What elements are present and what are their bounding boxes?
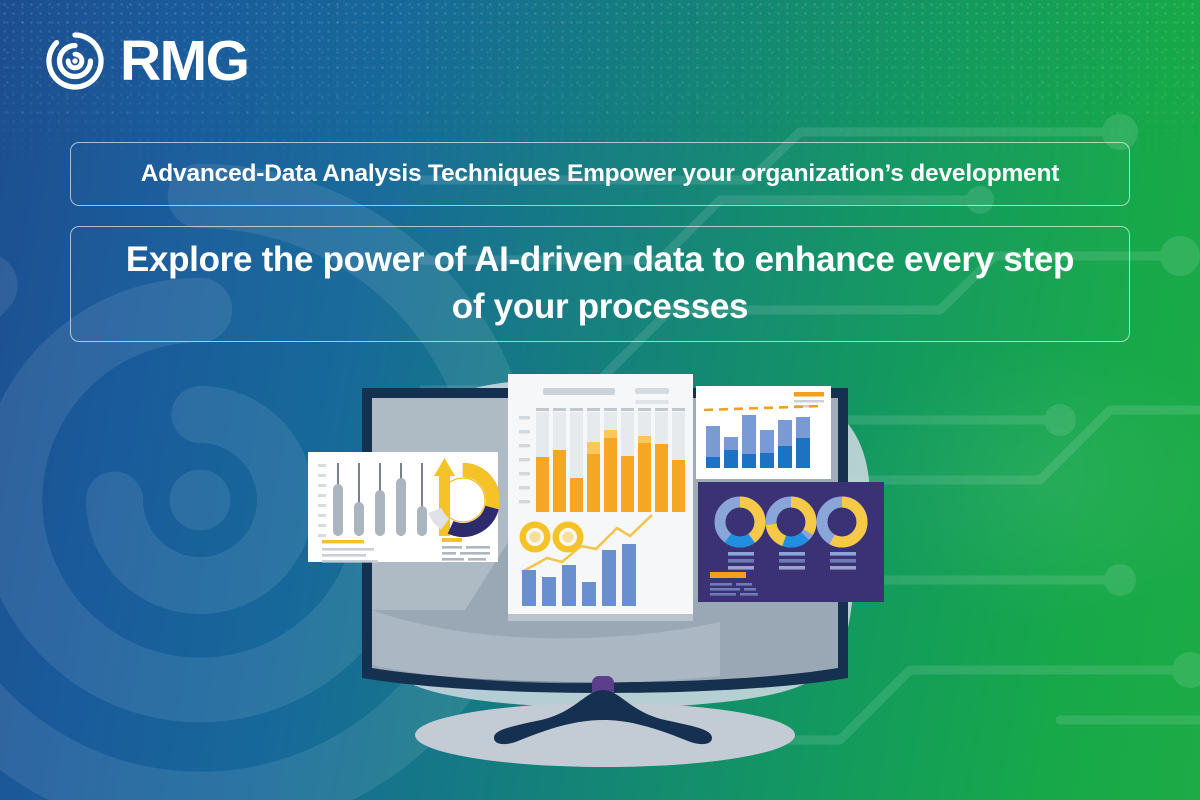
card-title-placeholder [543, 388, 615, 395]
main-headline-box: Explore the power of AI-driven data to e… [70, 226, 1130, 342]
promo-banner: RMG Advanced-Data Analysis Techniques Em… [0, 0, 1200, 800]
brand-logo[interactable]: RMG [44, 30, 248, 92]
main-headline-text: Explore the power of AI-driven data to e… [117, 237, 1083, 330]
purple-donuts-card [698, 482, 884, 602]
spiral-target-icon [44, 30, 106, 92]
center-card-bar-chart [536, 408, 685, 512]
brand-name: RMG [120, 33, 248, 90]
eyebrow-headline-text: Advanced-Data Analysis Techniques Empowe… [141, 160, 1059, 188]
eyebrow-headline-box: Advanced-Data Analysis Techniques Empowe… [70, 142, 1130, 206]
left-floating-card [308, 452, 505, 563]
card-subtitle-placeholder [635, 388, 669, 394]
center-dashboard-card [508, 374, 693, 621]
purple-card-legend-bars [728, 552, 856, 570]
top-right-card [696, 386, 831, 479]
data-analytics-monitor-illustration [300, 360, 910, 790]
